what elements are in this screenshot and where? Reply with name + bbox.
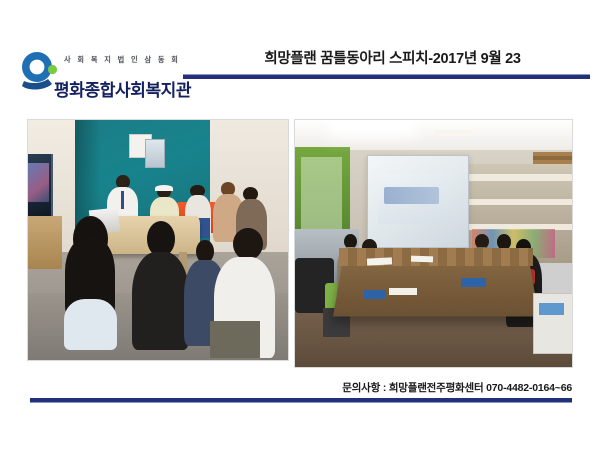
blue-folder-1: [364, 290, 386, 299]
wall-window: [145, 139, 165, 167]
cart-blue-box: [539, 303, 564, 315]
bookshelf-left-panel: [301, 157, 343, 231]
person-pants: [210, 321, 260, 357]
logo-main-text: 평화종합사회복지관: [54, 76, 191, 101]
photo-library-presentation: [294, 119, 573, 368]
projected-slide-text: [384, 187, 439, 204]
white-cap: [155, 185, 173, 191]
person-body: [132, 252, 189, 350]
footer-contact-text: 문의사항 : 희망플랜전주평화센터 070-4482-0164~66: [30, 380, 572, 395]
slide-title: 희망플랜 꿈틀동아리 스피치-2017년 9월 23: [195, 47, 590, 68]
shelf-row-2: [467, 199, 572, 205]
ceiling-light-second: [434, 130, 473, 136]
slide-header: 사 회 복 지 법 인 삼 동 회 평화종합사회복지관 희망플랜 꿈틀동아리 스…: [0, 0, 600, 110]
paper-sheet-2: [411, 255, 433, 262]
title-divider-rule: [183, 74, 590, 79]
logo-sub-text: 사 회 복 지 법 인 삼 동 회: [64, 55, 180, 65]
person-body: [64, 299, 116, 350]
photo-group-meeting-teal-room: [27, 119, 289, 361]
person-necktie: [121, 191, 124, 209]
person-foreground-black-shirt: [132, 221, 189, 351]
presentation-slide: 사 회 복 지 법 인 삼 동 회 평화종합사회복지관 희망플랜 꿈틀동아리 스…: [0, 0, 600, 462]
blue-folder-2: [461, 278, 486, 287]
organization-logo: 사 회 복 지 법 인 삼 동 회 평화종합사회복지관: [18, 48, 193, 104]
person-foreground-long-hair: [59, 216, 121, 350]
person-head: [233, 228, 263, 260]
footer-divider-rule: [30, 398, 572, 403]
shelf-row-1: [467, 174, 572, 180]
person-foreground-white-tee: [210, 228, 278, 358]
photo-right-scene: [295, 120, 572, 367]
ceiling-light: [334, 122, 412, 131]
monitor-screen-image: [28, 163, 49, 201]
paper-sheet-3: [389, 288, 417, 295]
photo-left-scene: [28, 120, 288, 360]
wooden-cabinet: [28, 216, 62, 269]
